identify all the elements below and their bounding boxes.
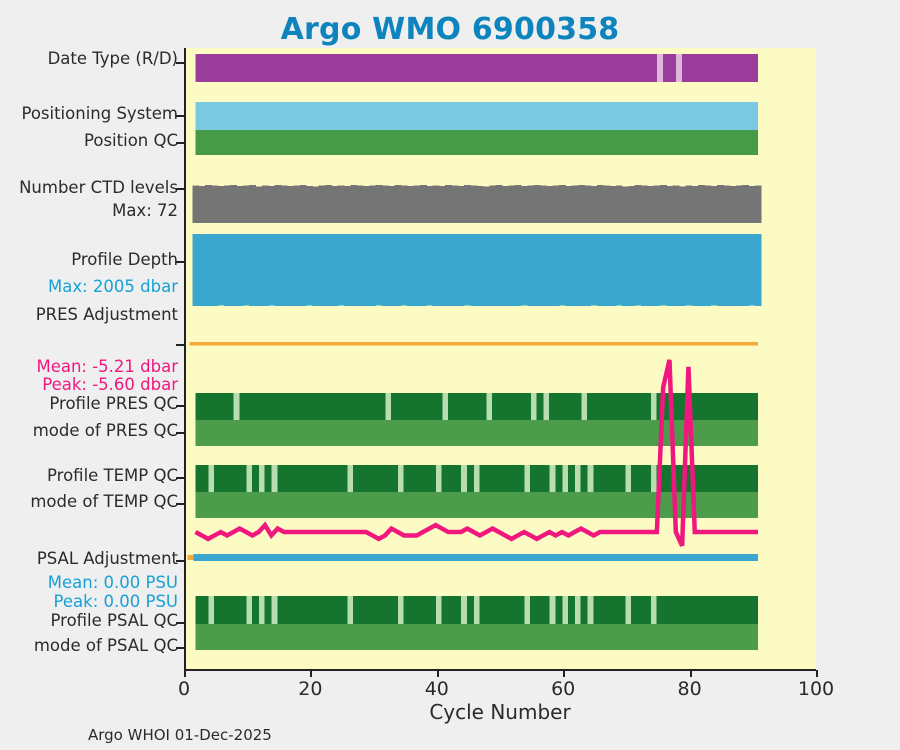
ytick-profile-temp-qc bbox=[176, 477, 184, 479]
label-number-ctd-levels-max: Max: 72 bbox=[2, 201, 184, 221]
x-axis-tick bbox=[690, 670, 692, 677]
plot-area bbox=[184, 48, 816, 670]
label-mode-psal-qc: mode of PSAL QC bbox=[2, 636, 184, 656]
track-position-qc bbox=[195, 130, 757, 155]
row-label-column: Date Type (R/D) Positioning System Posit… bbox=[0, 0, 184, 750]
label-profile-depth: Profile Depth bbox=[2, 250, 184, 270]
argo-figure: Argo WMO 6900358 Date Type (R/D) Positio… bbox=[0, 0, 900, 750]
label-pres-adjustment-peak: Peak: -5.60 dbar bbox=[2, 375, 184, 395]
label-psal-adjustment-mean: Mean: 0.00 PSU bbox=[2, 573, 184, 593]
x-axis-tick bbox=[816, 670, 818, 677]
x-axis-tick bbox=[310, 670, 312, 677]
x-axis-tick-label: 0 bbox=[178, 678, 190, 700]
track-positioning-system bbox=[195, 102, 757, 130]
label-number-ctd-levels: Number CTD levels bbox=[2, 178, 184, 198]
footer-credit: Argo WHOI 01-Dec-2025 bbox=[88, 726, 272, 744]
label-pres-adjustment-mean: Mean: -5.21 dbar bbox=[2, 357, 184, 377]
track-mode-psal-qc bbox=[195, 624, 757, 650]
ytick-profile-psal-qc bbox=[176, 622, 184, 624]
x-axis-tick bbox=[184, 670, 186, 677]
ytick-profile-pres-qc bbox=[176, 405, 184, 407]
label-position-qc: Position QC bbox=[2, 131, 184, 151]
timeline-tracks bbox=[186, 48, 818, 670]
track-psal-adjustment bbox=[187, 554, 757, 561]
ytick-positioning-system bbox=[176, 115, 184, 117]
track-number-ctd-levels bbox=[192, 185, 761, 223]
ytick-pres-adjustment bbox=[176, 344, 184, 346]
label-mode-temp-qc: mode of TEMP QC bbox=[2, 492, 184, 512]
x-axis-tick-label: 20 bbox=[298, 678, 322, 700]
label-profile-pres-qc: Profile PRES QC bbox=[2, 394, 184, 414]
x-axis-tick-label: 60 bbox=[551, 678, 575, 700]
x-axis-tick bbox=[437, 670, 439, 677]
ytick-position-qc bbox=[176, 142, 184, 144]
track-pres-reference-line bbox=[189, 342, 757, 346]
x-axis-line bbox=[184, 669, 816, 671]
ytick-mode-pres-qc bbox=[176, 432, 184, 434]
ytick-profile-depth bbox=[176, 261, 184, 263]
ytick-mode-psal-qc bbox=[176, 647, 184, 649]
track-date-type bbox=[195, 54, 757, 82]
label-profile-psal-qc: Profile PSAL QC bbox=[2, 611, 184, 631]
label-positioning-system: Positioning System bbox=[2, 104, 184, 124]
label-date-type: Date Type (R/D) bbox=[2, 49, 184, 69]
ytick-psal-adjustment bbox=[176, 560, 184, 562]
x-axis-label: Cycle Number bbox=[184, 700, 816, 724]
label-profile-depth-max: Max: 2005 dbar bbox=[2, 277, 184, 297]
label-profile-temp-qc: Profile TEMP QC bbox=[2, 466, 184, 486]
ytick-date-type bbox=[176, 62, 184, 64]
label-pres-adjustment: PRES Adjustment bbox=[2, 305, 184, 325]
label-mode-pres-qc: mode of PRES QC bbox=[2, 421, 184, 441]
label-psal-adjustment: PSAL Adjustment bbox=[2, 549, 184, 569]
x-axis-tick-label: 80 bbox=[678, 678, 702, 700]
x-axis-tick bbox=[563, 670, 565, 677]
track-profile-psal-qc bbox=[195, 596, 757, 624]
track-profile-depth bbox=[192, 234, 761, 306]
x-axis-tick-label: 100 bbox=[798, 678, 834, 700]
ytick-mode-temp-qc bbox=[176, 503, 184, 505]
ytick-number-ctd-levels bbox=[176, 188, 184, 190]
label-psal-adjustment-peak: Peak: 0.00 PSU bbox=[2, 592, 184, 612]
x-axis-tick-label: 40 bbox=[425, 678, 449, 700]
